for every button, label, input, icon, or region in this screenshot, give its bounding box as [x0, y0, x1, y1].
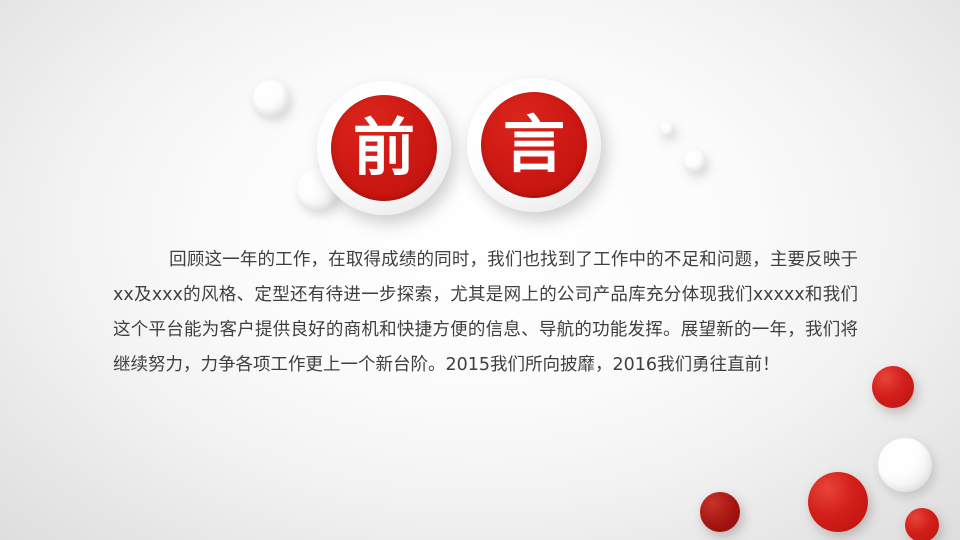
body-paragraph-block: 回顾这一年的工作，在取得成绩的同时，我们也找到了工作中的不足和问题，主要反映于x…	[113, 243, 858, 383]
bubble-red-bottom-right	[808, 472, 868, 532]
bubble-white-small-right	[684, 150, 706, 172]
title-char-1: 前	[353, 117, 415, 179]
bubble-white-bottom-right	[878, 438, 932, 492]
title-char-2: 言	[503, 114, 565, 176]
slide-title: 前 言	[317, 78, 617, 218]
title-circle-inner-second: 言	[481, 92, 587, 198]
body-paragraph: 回顾这一年的工作，在取得成绩的同时，我们也找到了工作中的不足和问题，主要反映于x…	[113, 250, 858, 375]
slide-root: 前 言 回顾这一年的工作，在取得成绩的同时，我们也找到了工作中的不足和问题，主要…	[0, 0, 960, 540]
title-circle-first: 前	[317, 81, 451, 215]
bubble-white-top-left	[253, 80, 289, 116]
title-circle-inner-first: 前	[331, 95, 437, 201]
bubble-dark-red-bottom	[700, 492, 740, 532]
bubble-red-right	[872, 366, 914, 408]
bubble-red-bottom-corner	[905, 508, 939, 540]
title-circle-second: 言	[467, 78, 601, 212]
bubble-white-small-upper	[660, 122, 674, 136]
